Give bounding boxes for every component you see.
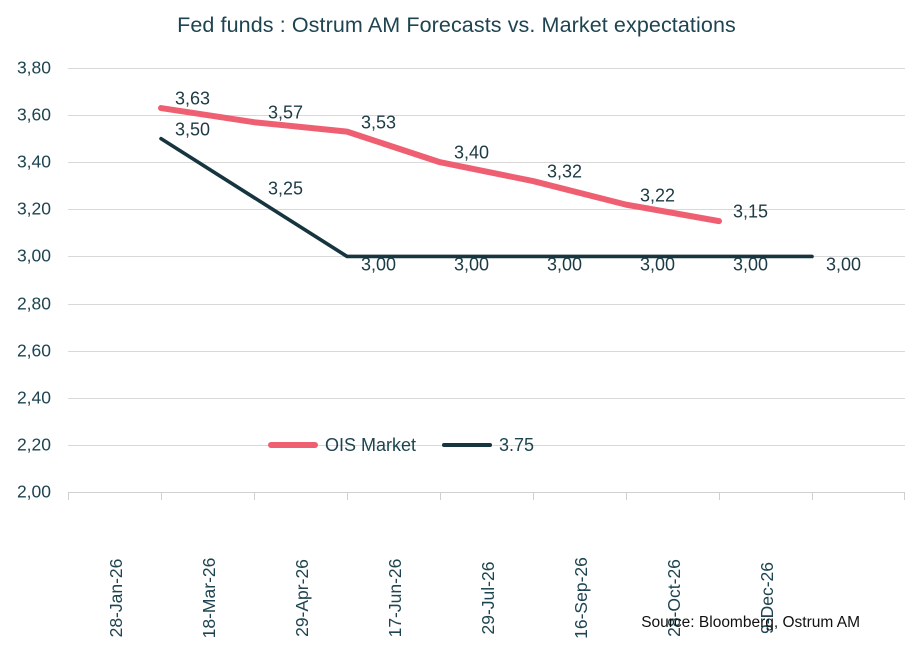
x-axis-ticks	[68, 492, 905, 500]
y-tick-label: 2,00	[17, 482, 51, 503]
data-label: 3,63	[175, 89, 210, 110]
x-axis-tick	[68, 492, 69, 500]
x-axis-tick	[719, 492, 720, 500]
x-tick-label: 16-Sep-26	[571, 557, 592, 639]
x-axis-tick	[812, 492, 813, 500]
y-tick-label: 2,60	[17, 340, 51, 361]
legend: OIS Market3.75	[268, 432, 534, 458]
source-note: Source: Bloomberg, Ostrum AM	[641, 614, 860, 632]
data-label: 3,22	[640, 185, 675, 206]
y-tick-label: 2,20	[17, 434, 51, 455]
data-label: 3,32	[547, 162, 582, 183]
x-axis-tick	[440, 492, 441, 500]
y-tick-label: 3,40	[17, 152, 51, 173]
data-label: 3,00	[826, 255, 861, 276]
chart-title: Fed funds : Ostrum AM Forecasts vs. Mark…	[0, 13, 913, 38]
x-axis-tick	[161, 492, 162, 500]
plot-area: 3,633,573,533,403,323,223,153,503,253,00…	[68, 68, 905, 492]
chart-container: Fed funds : Ostrum AM Forecasts vs. Mark…	[0, 0, 913, 646]
data-label: 3,00	[640, 255, 675, 276]
x-tick-label: 17-Jun-26	[385, 559, 406, 638]
x-axis-tick	[254, 492, 255, 500]
data-label: 3,57	[268, 103, 303, 124]
x-axis-tick	[904, 492, 905, 500]
y-tick-label: 3,60	[17, 105, 51, 126]
data-label: 3,25	[268, 178, 303, 199]
data-label: 3,53	[361, 112, 396, 133]
legend-swatch-icon	[442, 443, 492, 447]
y-tick-label: 2,80	[17, 293, 51, 314]
legend-swatch-icon	[268, 442, 318, 448]
y-tick-label: 3,80	[17, 58, 51, 79]
legend-label: 3.75	[499, 435, 534, 456]
x-axis-tick	[533, 492, 534, 500]
data-label: 3,00	[547, 255, 582, 276]
x-tick-label: 29-Jul-26	[478, 562, 499, 635]
data-label: 3,50	[175, 119, 210, 140]
x-tick-label: 28-Jan-26	[106, 559, 127, 638]
legend-label: OIS Market	[325, 435, 416, 456]
y-tick-label: 3,00	[17, 246, 51, 267]
data-label: 3,00	[454, 255, 489, 276]
data-label: 3,15	[733, 202, 768, 223]
legend-item-ois-market[interactable]: OIS Market	[268, 435, 416, 456]
x-tick-label: 29-Apr-26	[292, 559, 313, 637]
data-label: 3,40	[454, 143, 489, 164]
data-label: 3,00	[361, 255, 396, 276]
x-axis-tick	[626, 492, 627, 500]
x-axis: 28-Jan-2618-Mar-2629-Apr-2617-Jun-2629-J…	[68, 503, 905, 598]
y-tick-label: 2,40	[17, 387, 51, 408]
data-label: 3,00	[733, 255, 768, 276]
x-tick-label: 18-Mar-26	[199, 558, 220, 639]
x-axis-tick	[347, 492, 348, 500]
legend-item-forecast[interactable]: 3.75	[442, 435, 534, 456]
y-tick-label: 3,20	[17, 199, 51, 220]
series-line-ois-market	[161, 108, 719, 221]
y-axis: 3,803,603,403,203,002,802,602,402,202,00	[0, 68, 60, 492]
